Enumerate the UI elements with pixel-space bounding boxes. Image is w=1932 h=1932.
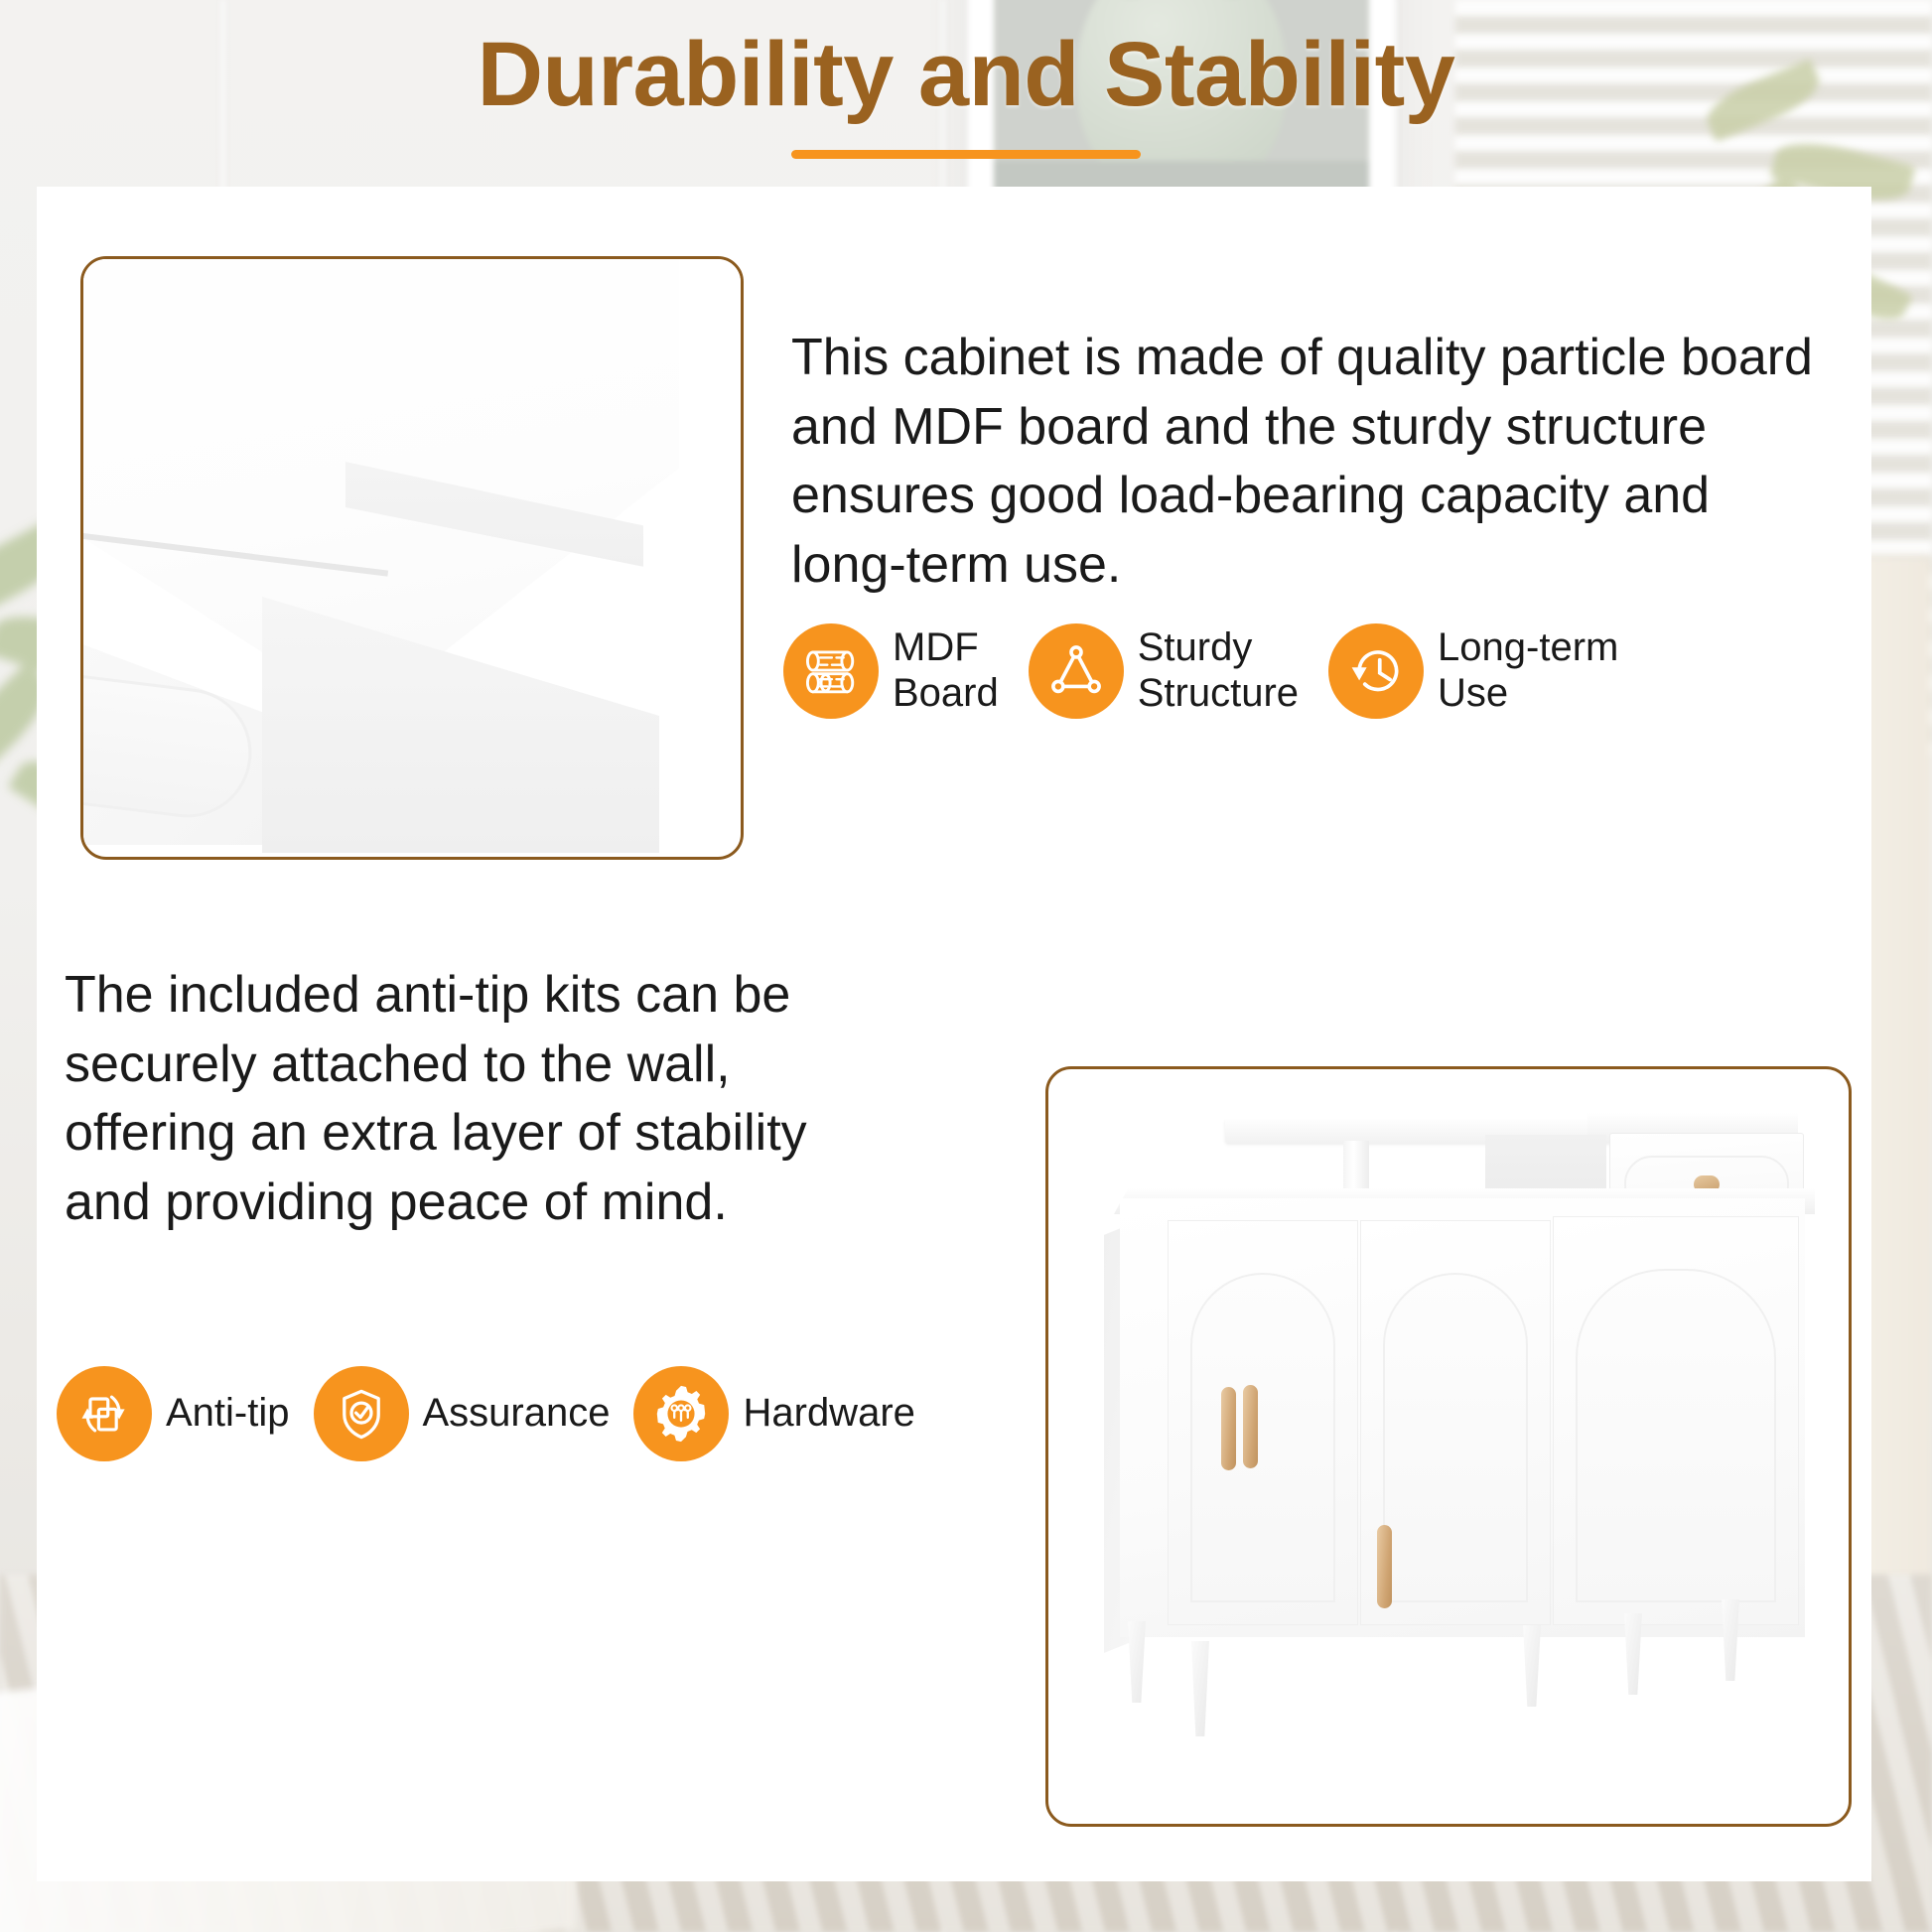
detail-photo-frame [80,256,744,860]
feature-label: Assurance [423,1391,611,1437]
gear-circuit-icon [633,1366,729,1461]
feature-label: Long-term Use [1438,625,1618,716]
cabinet-top-closeup [80,256,744,775]
cabinet-door [1553,1216,1799,1625]
triangle-structure-icon [1029,623,1124,719]
cabinet-leg [1128,1621,1146,1703]
feature-sturdy-structure[interactable]: Sturdy Structure [1029,623,1299,719]
feature-anti-tip[interactable]: Anti-tip [57,1366,290,1461]
cabinet-door [1168,1220,1358,1625]
bottom-paragraph: The included anti-tip kits can be secure… [65,961,859,1238]
wooden-door-handle [1221,1387,1236,1470]
wooden-door-handle [1377,1525,1392,1608]
cabinet-leg [1523,1625,1541,1707]
product-photo-frame [1045,1066,1852,1827]
feature-label: Sturdy Structure [1138,625,1299,716]
feature-label: Hardware [743,1391,914,1437]
header: Durability and Stability [0,26,1932,159]
cabinet-illustration [1048,1069,1849,1824]
door-arch-groove [1190,1273,1335,1602]
content-panel: This cabinet is made of quality particle… [37,187,1871,1881]
cabinet-leg [1722,1599,1739,1681]
anti-tip-rotate-icon [57,1366,152,1461]
feature-mdf-board[interactable]: MDF Board [783,623,999,719]
feature-label: MDF Board [893,625,999,716]
feature-assurance[interactable]: Assurance [314,1366,611,1461]
wooden-door-handle [1243,1385,1258,1468]
shield-check-icon [314,1366,409,1461]
bottom-feature-row: Anti-tip Assurance [57,1366,915,1461]
top-feature-row: MDF Board Sturdy Structure [783,623,1618,719]
feature-label: Anti-tip [166,1391,290,1437]
cabinet-leg [1624,1613,1642,1695]
title-underline [791,150,1141,159]
feature-long-term-use[interactable]: Long-term Use [1328,623,1618,719]
door-arch-groove [1383,1273,1528,1602]
door-arch-groove [1576,1269,1776,1602]
clock-rotate-icon [1328,623,1424,719]
page-title: Durability and Stability [0,26,1932,124]
cabinet-door [1360,1220,1551,1625]
cabinet-leg [1191,1641,1209,1736]
feature-hardware[interactable]: Hardware [633,1366,914,1461]
logs-icon [783,623,879,719]
top-paragraph: This cabinet is made of quality particle… [791,324,1822,601]
